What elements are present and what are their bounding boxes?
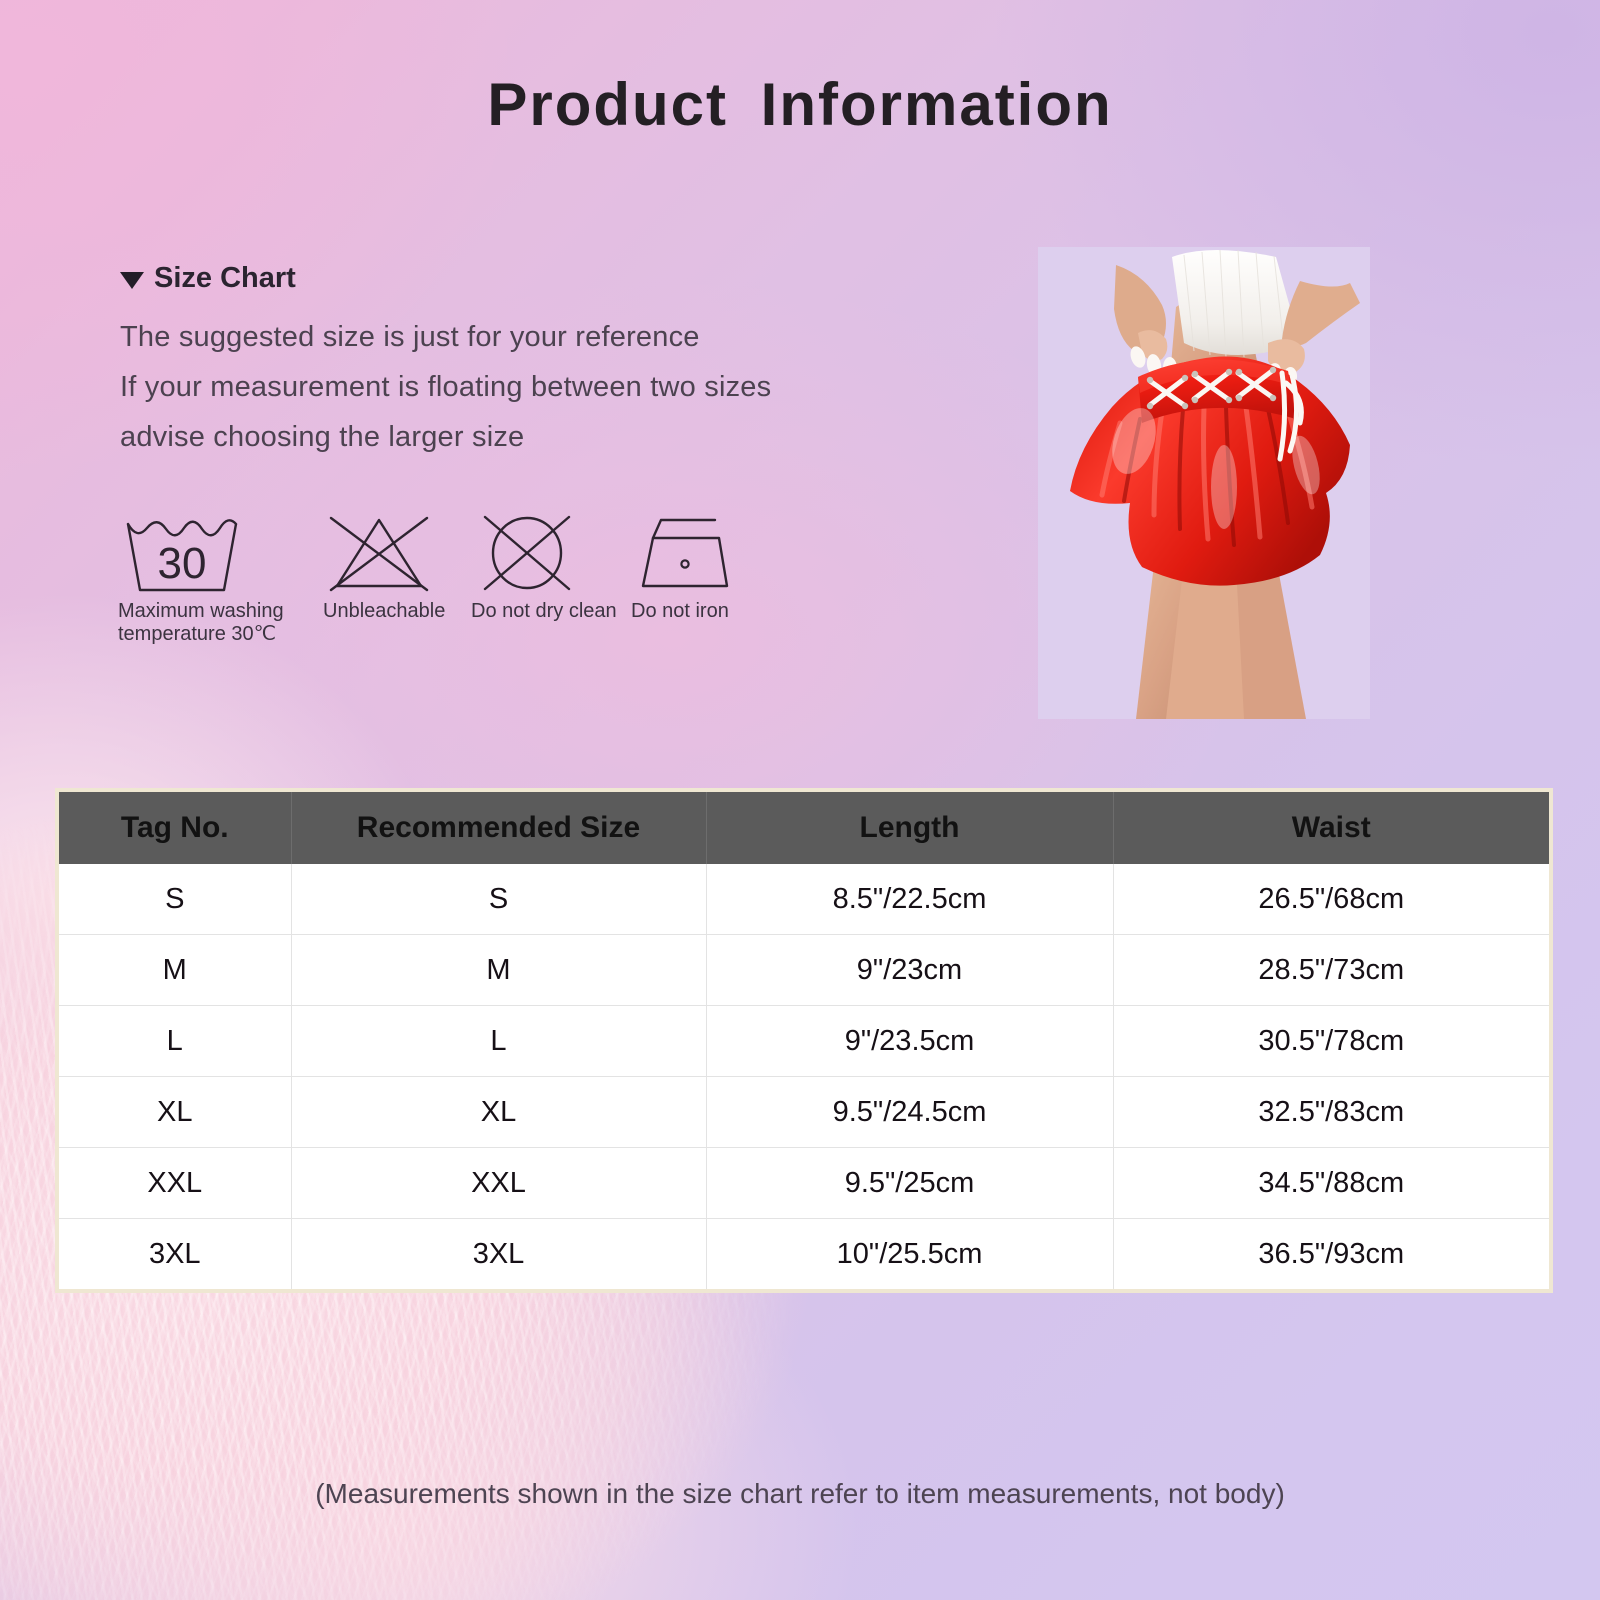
table-row: L L 9"/23.5cm 30.5"/78cm xyxy=(59,1006,1549,1077)
cell-length: 8.5"/22.5cm xyxy=(706,864,1113,935)
cell-tag-no: S xyxy=(59,864,291,935)
do-not-iron-icon xyxy=(631,512,743,594)
care-symbol-label: Unbleachable xyxy=(323,600,471,623)
column-header-length: Length xyxy=(706,792,1113,864)
do-not-dry-clean-icon xyxy=(471,512,583,594)
care-symbol-label: Do not dry clean xyxy=(471,600,631,623)
care-symbol-label: Maximum washing temperature 30℃ xyxy=(118,600,323,646)
description-line-2: If your measurement is floating between … xyxy=(120,362,771,412)
cell-length: 10"/25.5cm xyxy=(706,1219,1113,1290)
product-information-page: Product Information Size Chart The sugge… xyxy=(0,0,1600,1600)
do-not-bleach-icon xyxy=(323,512,435,594)
triangle-down-icon xyxy=(120,272,144,289)
table-header: Tag No. Recommended Size Length Waist xyxy=(59,792,1549,864)
care-symbol-label: Do not iron xyxy=(631,600,771,623)
care-symbols-row: 30 Maximum washing temperature 30℃ Unble… xyxy=(118,512,771,646)
column-header-recommended-size: Recommended Size xyxy=(291,792,706,864)
description-line-1: The suggested size is just for your refe… xyxy=(120,312,771,362)
care-symbol-max-wash-temperature: 30 Maximum washing temperature 30℃ xyxy=(118,512,323,646)
cell-waist: 30.5"/78cm xyxy=(1113,1006,1549,1077)
cell-tag-no: XXL xyxy=(59,1148,291,1219)
cell-rec-size: XXL xyxy=(291,1148,706,1219)
column-header-waist: Waist xyxy=(1113,792,1549,864)
care-symbol-unbleachable: Unbleachable xyxy=(323,512,471,623)
cell-waist: 28.5"/73cm xyxy=(1113,935,1549,1006)
product-photo xyxy=(1038,247,1370,719)
wash-tub-30-icon: 30 xyxy=(118,512,246,594)
cell-tag-no: L xyxy=(59,1006,291,1077)
size-chart-table: Tag No. Recommended Size Length Waist S … xyxy=(59,792,1549,1289)
cell-waist: 34.5"/88cm xyxy=(1113,1148,1549,1219)
wash-temperature-value: 30 xyxy=(158,539,207,588)
size-chart-heading: Size Chart xyxy=(120,262,296,295)
table-header-row: Tag No. Recommended Size Length Waist xyxy=(59,792,1549,864)
cell-waist: 26.5"/68cm xyxy=(1113,864,1549,935)
cell-rec-size: 3XL xyxy=(291,1219,706,1290)
table-row: XL XL 9.5"/24.5cm 32.5"/83cm xyxy=(59,1077,1549,1148)
care-symbol-do-not-iron: Do not iron xyxy=(631,512,771,623)
cell-rec-size: L xyxy=(291,1006,706,1077)
cell-length: 9.5"/25cm xyxy=(706,1148,1113,1219)
measurement-footnote: (Measurements shown in the size chart re… xyxy=(0,1478,1600,1510)
cell-waist: 32.5"/83cm xyxy=(1113,1077,1549,1148)
page-title: Product Information xyxy=(0,70,1600,139)
cell-tag-no: 3XL xyxy=(59,1219,291,1290)
cell-rec-size: M xyxy=(291,935,706,1006)
cell-rec-size: S xyxy=(291,864,706,935)
cell-tag-no: XL xyxy=(59,1077,291,1148)
description-line-3: advise choosing the larger size xyxy=(120,412,771,462)
table-body: S S 8.5"/22.5cm 26.5"/68cm M M 9"/23cm 2… xyxy=(59,864,1549,1289)
size-chart-description: The suggested size is just for your refe… xyxy=(120,312,771,462)
table-row: S S 8.5"/22.5cm 26.5"/68cm xyxy=(59,864,1549,935)
column-header-tag-no: Tag No. xyxy=(59,792,291,864)
table-row: XXL XXL 9.5"/25cm 34.5"/88cm xyxy=(59,1148,1549,1219)
cell-rec-size: XL xyxy=(291,1077,706,1148)
cell-waist: 36.5"/93cm xyxy=(1113,1219,1549,1290)
cell-length: 9"/23cm xyxy=(706,935,1113,1006)
model-skirt-illustration xyxy=(1038,247,1370,719)
table-row: M M 9"/23cm 28.5"/73cm xyxy=(59,935,1549,1006)
size-chart-heading-label: Size Chart xyxy=(154,262,296,295)
cell-length: 9.5"/24.5cm xyxy=(706,1077,1113,1148)
care-symbol-do-not-dry-clean: Do not dry clean xyxy=(471,512,631,623)
size-chart-table-wrapper: Tag No. Recommended Size Length Waist S … xyxy=(55,788,1553,1293)
table-row: 3XL 3XL 10"/25.5cm 36.5"/93cm xyxy=(59,1219,1549,1290)
cell-tag-no: M xyxy=(59,935,291,1006)
cell-length: 9"/23.5cm xyxy=(706,1006,1113,1077)
